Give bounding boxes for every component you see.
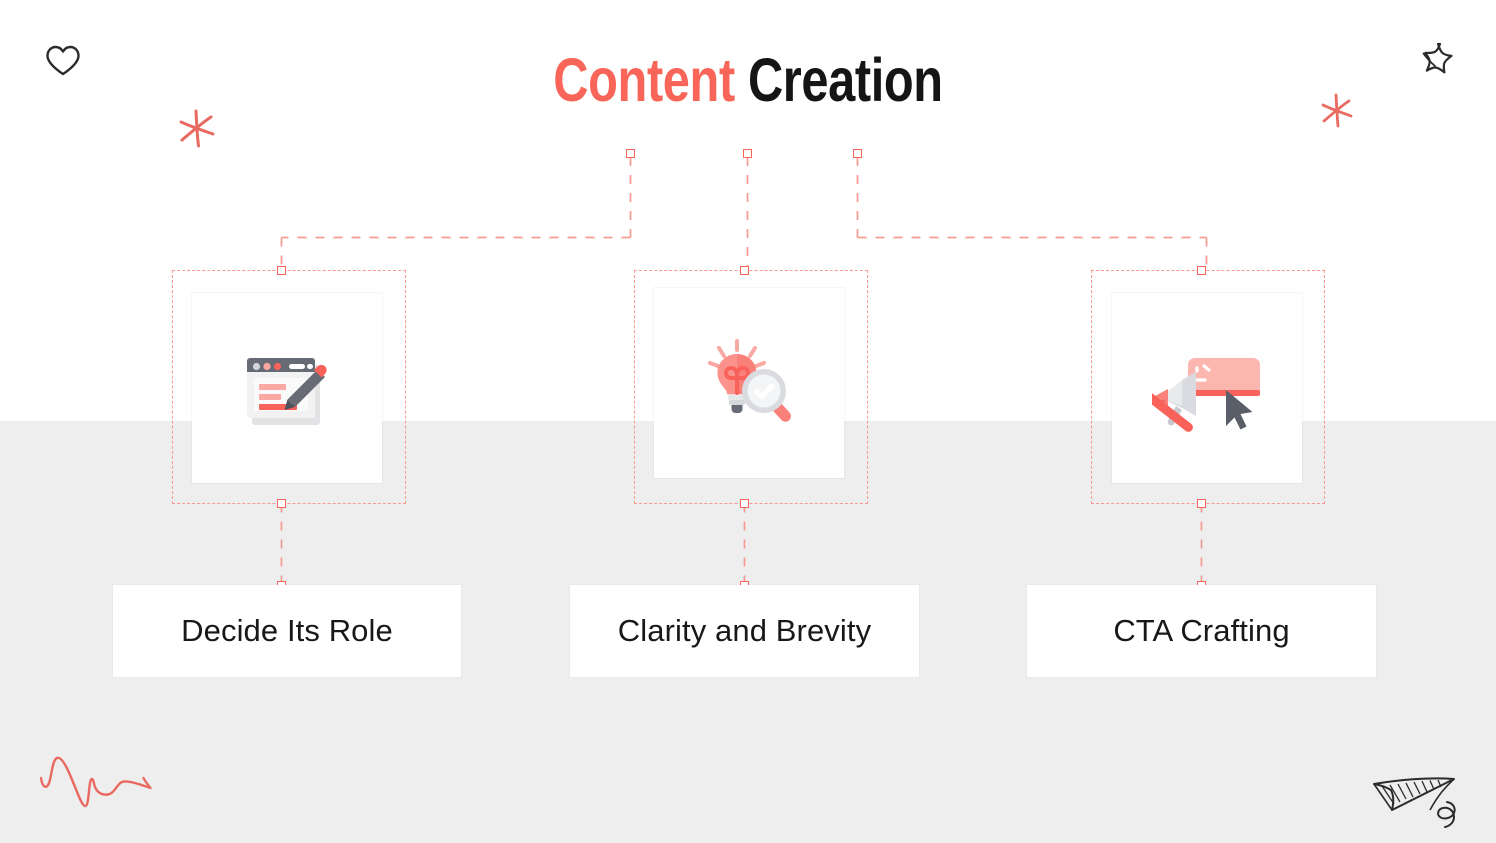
connector-anchor-top-left xyxy=(626,149,635,158)
step-label-3: CTA Crafting xyxy=(1113,613,1289,649)
label-box-step-2[interactable]: Clarity and Brevity xyxy=(570,585,919,677)
step-label-2: Clarity and Brevity xyxy=(618,613,871,649)
star-outline-icon xyxy=(1410,36,1464,95)
label-box-step-1[interactable]: Decide Its Role xyxy=(113,585,461,677)
icon-card-step-3[interactable] xyxy=(1112,293,1302,483)
icon-card-step-1[interactable] xyxy=(192,293,382,483)
page-title-rest: Creation xyxy=(735,46,943,114)
step-label-1: Decide Its Role xyxy=(181,613,393,649)
slide-canvas: Content Creation xyxy=(0,0,1496,843)
sparkle-asterisk-right-icon xyxy=(1316,90,1358,137)
selection-anchor-step-2-bottom[interactable] xyxy=(740,499,749,508)
page-title: Content Creation xyxy=(150,48,1347,112)
megaphone-speech-bubble-cursor-icon xyxy=(1152,338,1262,438)
selection-anchor-step-2-top[interactable] xyxy=(740,266,749,275)
heart-outline-icon xyxy=(44,44,82,83)
selection-anchor-step-3-bottom[interactable] xyxy=(1197,499,1206,508)
lightbulb-magnifier-check-icon xyxy=(699,333,799,433)
selection-anchor-step-3-top[interactable] xyxy=(1197,266,1206,275)
selection-anchor-step-1-bottom[interactable] xyxy=(277,499,286,508)
squiggle-line-icon xyxy=(30,740,180,825)
connector-anchor-top-center xyxy=(743,149,752,158)
browser-window-pencil-icon xyxy=(237,338,337,438)
connector-anchor-top-right xyxy=(853,149,862,158)
icon-card-step-2[interactable] xyxy=(654,288,844,478)
page-title-accent: Content xyxy=(553,46,735,114)
sparkle-asterisk-left-icon xyxy=(173,105,221,158)
paper-plane-icon xyxy=(1368,768,1478,843)
label-box-step-3[interactable]: CTA Crafting xyxy=(1027,585,1376,677)
selection-anchor-step-1-top[interactable] xyxy=(277,266,286,275)
